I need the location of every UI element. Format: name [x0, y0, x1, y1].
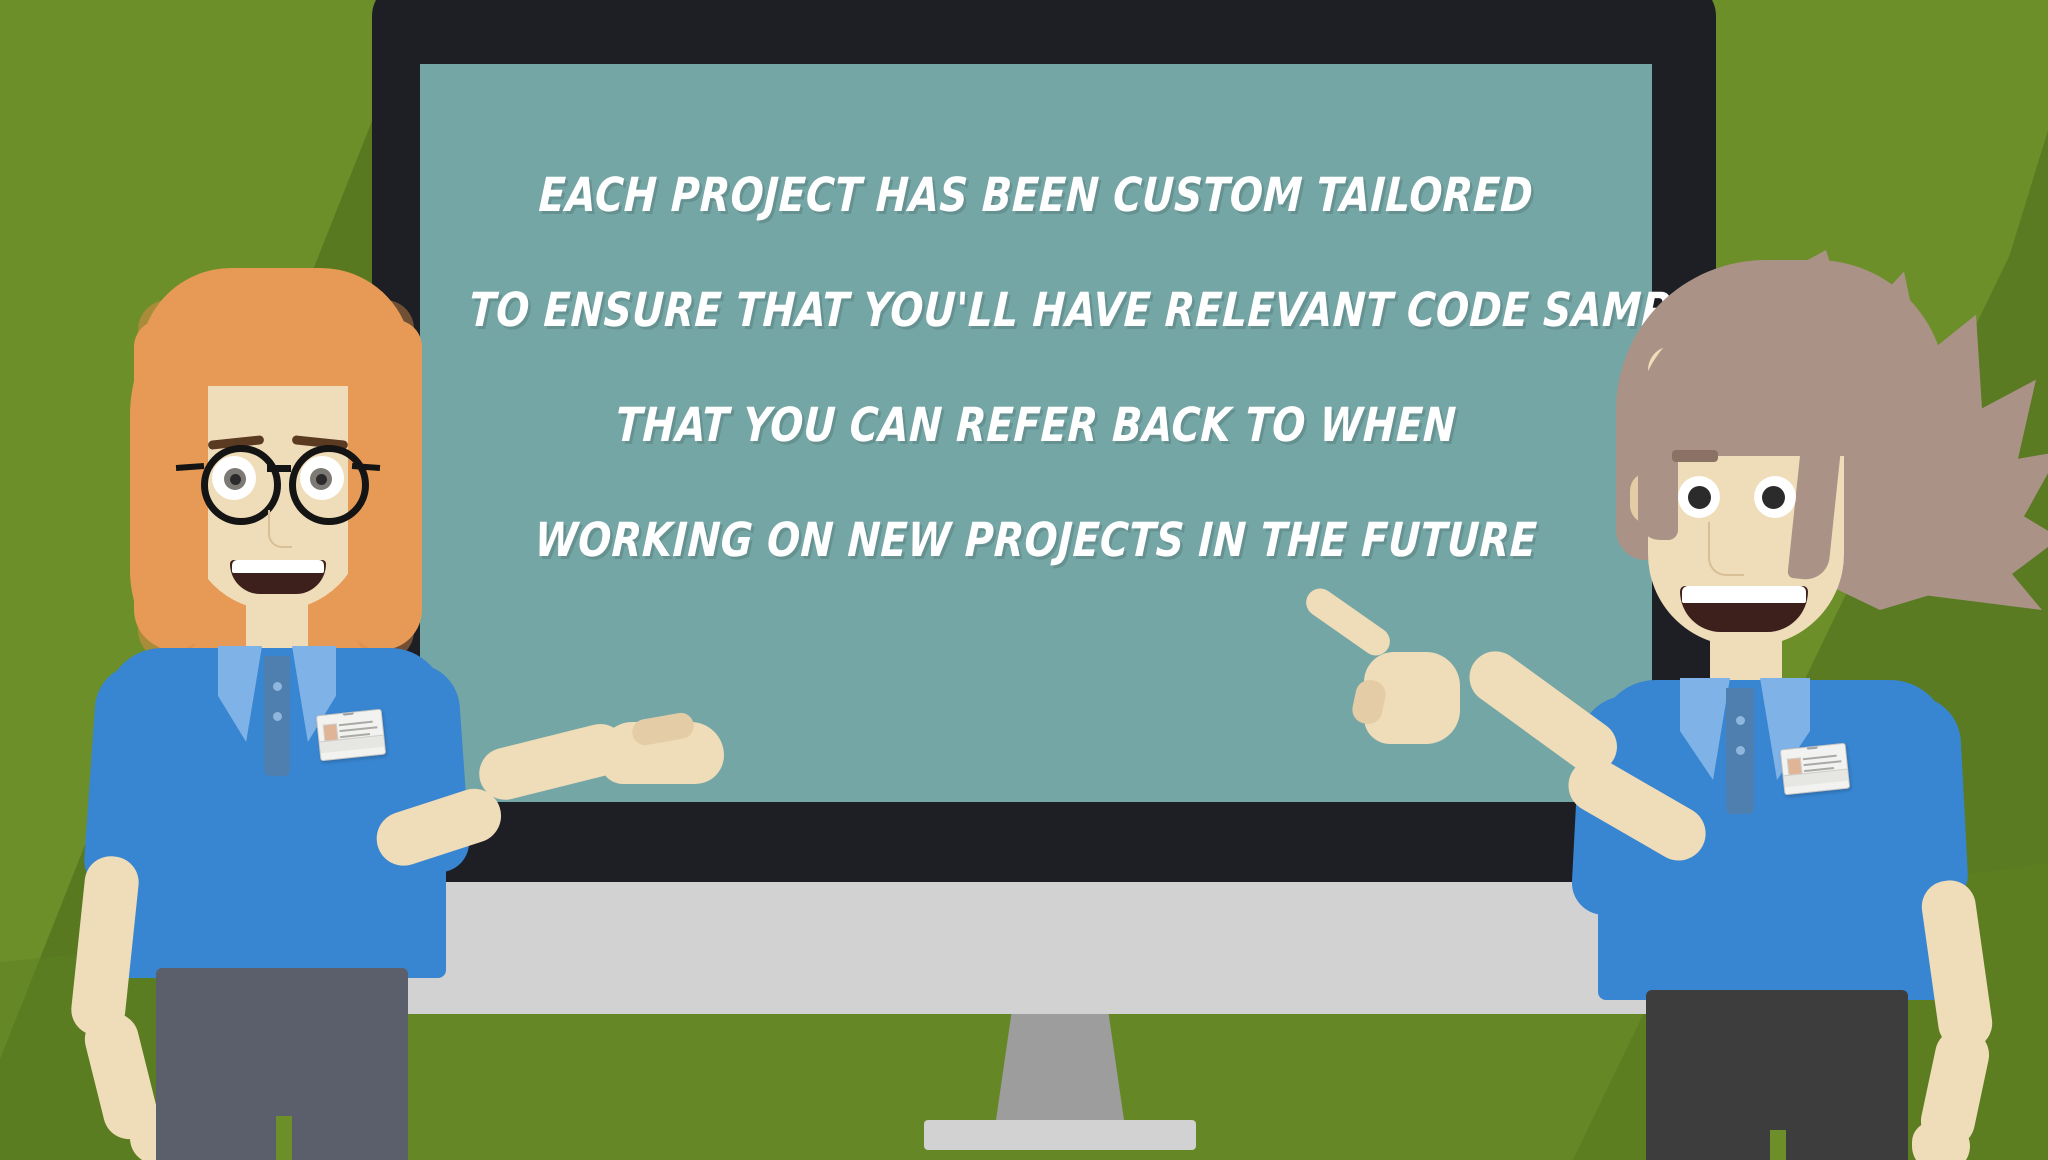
- nose-male: [1708, 522, 1744, 576]
- monitor-stand-base: [924, 1120, 1196, 1150]
- badge-text-line: [1803, 755, 1837, 761]
- monitor-chin: [372, 882, 1716, 1014]
- pupil-right-male: [1762, 486, 1785, 509]
- badge-text-line: [339, 721, 373, 727]
- pants-leg-split-female: [276, 1116, 292, 1160]
- id-badge-male: [1780, 743, 1850, 796]
- female-presenter: [60, 260, 530, 1160]
- arm-upper-left-female: [69, 854, 142, 1039]
- screen-line-1: EACH PROJECT HAS BEEN CUSTOM TAILORED: [468, 172, 1604, 219]
- glasses-bridge-female: [267, 465, 291, 472]
- monitor-stand-neck: [996, 1014, 1124, 1120]
- glasses-frame-right-female: [289, 445, 369, 525]
- screen-line-2: TO ENSURE THAT YOU'LL HAVE RELEVANT CODE…: [468, 287, 1604, 334]
- male-presenter: [1560, 260, 2048, 1160]
- monitor-screen: EACH PROJECT HAS BEEN CUSTOM TAILORED TO…: [420, 64, 1652, 802]
- hair-sideburn-male: [1638, 390, 1678, 540]
- sleeve-right-male: [1851, 693, 1970, 910]
- pants-leg-split-male: [1770, 1130, 1786, 1160]
- id-badge-female: [316, 709, 386, 762]
- nose-female: [268, 510, 292, 548]
- hand-on-hip-male: [1912, 1122, 1970, 1160]
- screen-line-3: THAT YOU CAN REFER BACK TO WHEN: [468, 402, 1604, 449]
- badge-text-line: [1803, 760, 1841, 766]
- hair-side-left-female: [134, 320, 208, 650]
- teeth-female: [232, 560, 324, 573]
- pupil-left-male: [1688, 486, 1711, 509]
- eyebrow-left-male: [1672, 450, 1718, 462]
- screen-line-4: WORKING ON NEW PROJECTS IN THE FUTURE: [468, 517, 1604, 564]
- polo-button-bottom-female: [273, 712, 282, 721]
- polo-button-top-male: [1736, 716, 1745, 725]
- polo-button-bottom-male: [1736, 746, 1745, 755]
- arm-upper-right-male: [1918, 877, 1995, 1053]
- teeth-male: [1682, 586, 1806, 603]
- screen-text-block: EACH PROJECT HAS BEEN CUSTOM TAILORED TO…: [420, 172, 1652, 632]
- scene-root: EACH PROJECT HAS BEEN CUSTOM TAILORED TO…: [0, 0, 2048, 1160]
- badge-text-line: [339, 726, 377, 732]
- polo-button-top-female: [273, 682, 282, 691]
